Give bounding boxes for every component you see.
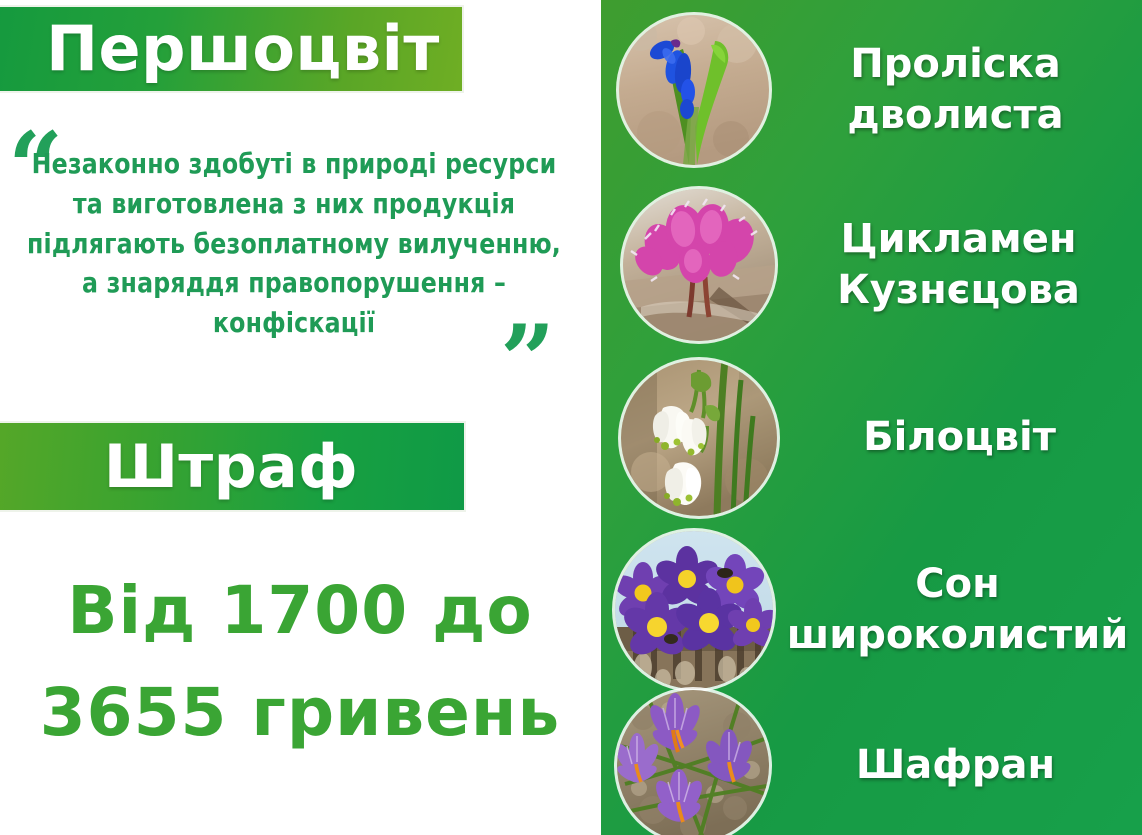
- species-name-line-2: Кузнєцова: [781, 265, 1136, 316]
- crocus-photo: [617, 690, 769, 835]
- primrose-title-label: Першоцвіт: [20, 18, 440, 80]
- species-row: Білоцвіт: [601, 352, 1142, 524]
- quote-block: “ Незаконно здобуті в природі ресурси та…: [0, 118, 600, 403]
- species-row: Сон широколистий: [601, 524, 1142, 696]
- pulsatilla-photo: [615, 531, 773, 689]
- species-list-panel: Проліска дволиста: [601, 0, 1142, 835]
- fine-title-banner: Штраф: [0, 421, 466, 512]
- fine-amount-line-2: 3655 гривень: [0, 662, 600, 764]
- species-name-line-1: Цикламен: [781, 214, 1136, 265]
- left-content-column: Першоцвіт “ Незаконно здобуті в природі …: [0, 0, 600, 835]
- species-row: Проліска дволиста: [601, 6, 1142, 174]
- quote-close-mark: ”: [500, 313, 555, 409]
- quote-text: Незаконно здобуті в природі ресурси та в…: [23, 144, 564, 343]
- species-row: Цикламен Кузнєцова: [601, 180, 1142, 350]
- species-name-line-2: широколистий: [779, 610, 1136, 661]
- cyclamen-photo: [623, 189, 775, 341]
- species-name: Цикламен Кузнєцова: [775, 214, 1142, 316]
- species-name: Проліска дволиста: [769, 39, 1142, 141]
- species-name-line-1: Сон: [779, 559, 1136, 610]
- fine-amount: Від 1700 до 3655 гривень: [0, 560, 600, 765]
- fine-amount-line-1: Від 1700 до: [0, 560, 600, 662]
- species-row: Шафран: [601, 696, 1142, 835]
- primrose-title-banner: Першоцвіт: [0, 5, 464, 93]
- fine-title-label: Штраф: [104, 437, 358, 497]
- species-name-line-1: Проліска: [775, 39, 1136, 90]
- species-name-line-1: Білоцвіт: [783, 412, 1136, 463]
- species-name-line-1: Шафран: [775, 740, 1136, 791]
- species-name: Білоцвіт: [777, 412, 1142, 463]
- infographic-poster: Першоцвіт “ Незаконно здобуті в природі …: [0, 0, 1142, 835]
- species-name: Шафран: [769, 740, 1142, 791]
- scilla-photo: [619, 15, 769, 165]
- species-name-line-2: дволиста: [775, 90, 1136, 141]
- leucojum-photo: [621, 360, 777, 516]
- species-name: Сон широколистий: [773, 559, 1142, 661]
